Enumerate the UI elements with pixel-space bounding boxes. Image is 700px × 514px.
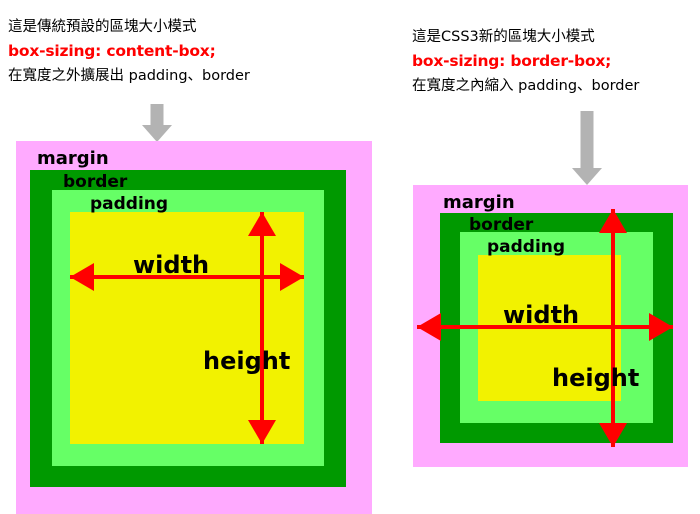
width-label: width <box>133 251 209 279</box>
margin-label: margin <box>443 192 515 213</box>
height-arrow-tip-bottom <box>248 420 276 444</box>
padding-label: padding <box>90 194 168 214</box>
caption-line-behavior: 在寬度之內縮入 padding、border <box>412 75 639 97</box>
height-arrow-content-box <box>248 212 276 444</box>
caption-line-description: 這是CSS3新的區塊大小模式 <box>412 26 639 48</box>
padding-label: padding <box>487 237 565 257</box>
width-arrow-tip-left <box>417 313 441 341</box>
down-arrow-head <box>572 168 602 185</box>
margin-label: margin <box>37 148 109 169</box>
width-arrow-tip-left <box>70 263 94 291</box>
border-label: border <box>469 215 533 235</box>
height-arrow-line <box>260 212 264 444</box>
caption-line-description: 這是傳統預設的區塊大小模式 <box>8 16 250 38</box>
height-label: height <box>203 347 290 375</box>
caption-line-code: box-sizing: border-box; <box>412 48 639 74</box>
down-arrow-shaft <box>581 111 594 169</box>
border-label: border <box>63 172 127 192</box>
height-arrow-tip-bottom <box>599 423 627 447</box>
height-arrow-tip-top <box>599 209 627 233</box>
caption-content-box: 這是傳統預設的區塊大小模式 box-sizing: content-box; 在… <box>8 16 250 87</box>
down-arrow-icon <box>572 111 602 185</box>
down-arrow-head <box>142 125 172 142</box>
width-arrow-tip-right <box>280 263 304 291</box>
caption-line-behavior: 在寬度之外擴展出 padding、border <box>8 65 250 87</box>
height-arrow-line <box>611 209 615 447</box>
diagram-content-box: 這是傳統預設的區塊大小模式 box-sizing: content-box; 在… <box>0 0 400 514</box>
width-arrow-tip-right <box>649 313 673 341</box>
height-arrow-border-box <box>599 209 627 447</box>
down-arrow-shaft <box>151 104 164 127</box>
down-arrow-icon <box>142 104 172 142</box>
caption-line-code: box-sizing: content-box; <box>8 38 250 64</box>
height-arrow-tip-top <box>248 212 276 236</box>
height-label: height <box>552 364 639 392</box>
caption-border-box: 這是CSS3新的區塊大小模式 box-sizing: border-box; 在… <box>412 26 639 97</box>
width-label: width <box>503 301 579 329</box>
